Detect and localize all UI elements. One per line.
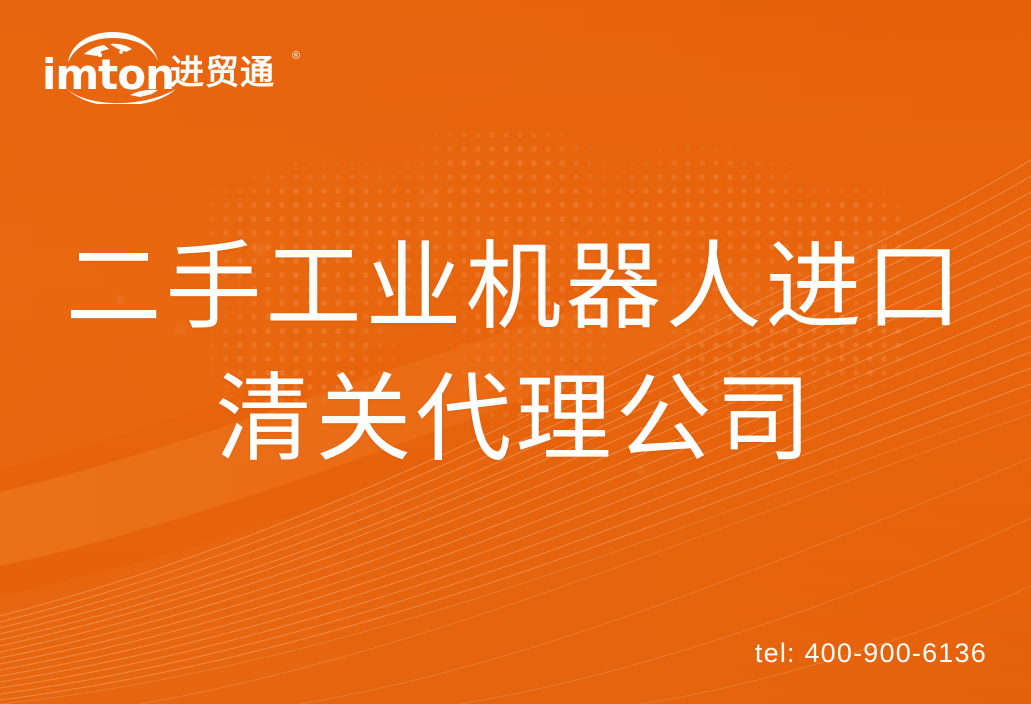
headline: 二手工业机器人进口 清关代理公司 xyxy=(0,222,1031,486)
logo-chinese-name: 进贸通 xyxy=(170,56,275,90)
headline-line-2: 清关代理公司 xyxy=(0,354,1031,486)
swoosh-icon xyxy=(66,86,176,104)
registered-trademark-icon: ® xyxy=(292,50,300,62)
promo-banner: imton 进贸通 ® 二手工业机器人进口 清关代理公司 tel: 400-90… xyxy=(0,0,1031,704)
headline-line-1: 二手工业机器人进口 xyxy=(0,222,1031,354)
contact-phone[interactable]: tel: 400-900-6136 xyxy=(755,638,987,668)
company-logo[interactable]: imton 进贸通 ® xyxy=(42,30,170,102)
